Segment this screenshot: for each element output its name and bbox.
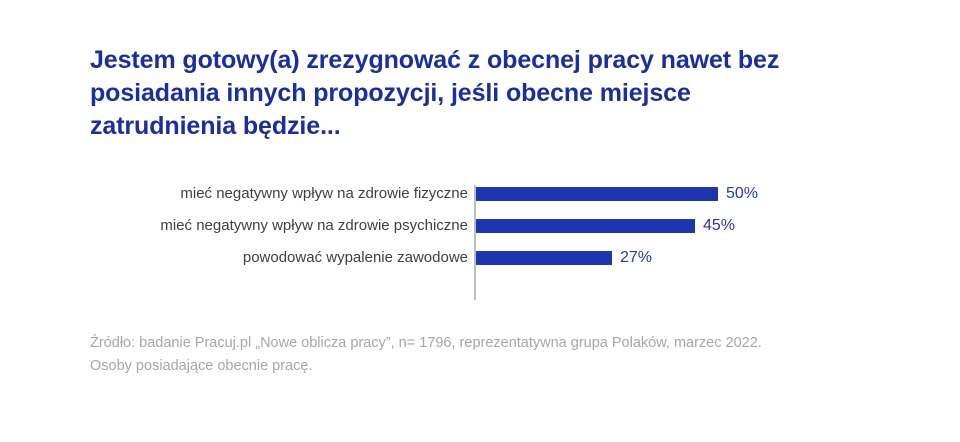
bar-category-label: powodować wypalenie zawodowe bbox=[243, 242, 468, 274]
table-row: mieć negatywny wpływ na zdrowie fizyczne… bbox=[0, 178, 960, 210]
bar-category-label: mieć negatywny wpływ na zdrowie fizyczne bbox=[180, 178, 468, 210]
chart-plot-area: mieć negatywny wpływ na zdrowie fizyczne… bbox=[0, 178, 960, 308]
chart-slide: Jestem gotowy(a) zrezygnować z obecnej p… bbox=[0, 0, 960, 442]
bar-mental-health bbox=[476, 219, 695, 233]
table-row: powodować wypalenie zawodowe 27% bbox=[0, 242, 960, 274]
bar-value-label: 50% bbox=[726, 186, 758, 202]
bar-category-label: mieć negatywny wpływ na zdrowie psychicz… bbox=[160, 210, 468, 242]
bar-container: 45% bbox=[476, 210, 735, 242]
bar-value-label: 45% bbox=[703, 218, 735, 234]
source-footnote: Źródło: badanie Pracuj.pl „Nowe oblicza … bbox=[90, 332, 890, 378]
bar-rows: mieć negatywny wpływ na zdrowie fizyczne… bbox=[0, 178, 960, 274]
bar-physical-health bbox=[476, 187, 718, 201]
bar-value-label: 27% bbox=[620, 250, 652, 266]
page-title: Jestem gotowy(a) zrezygnować z obecnej p… bbox=[90, 44, 790, 143]
bar-container: 27% bbox=[476, 242, 652, 274]
table-row: mieć negatywny wpływ na zdrowie psychicz… bbox=[0, 210, 960, 242]
bar-container: 50% bbox=[476, 178, 758, 210]
bar-burnout bbox=[476, 251, 612, 265]
